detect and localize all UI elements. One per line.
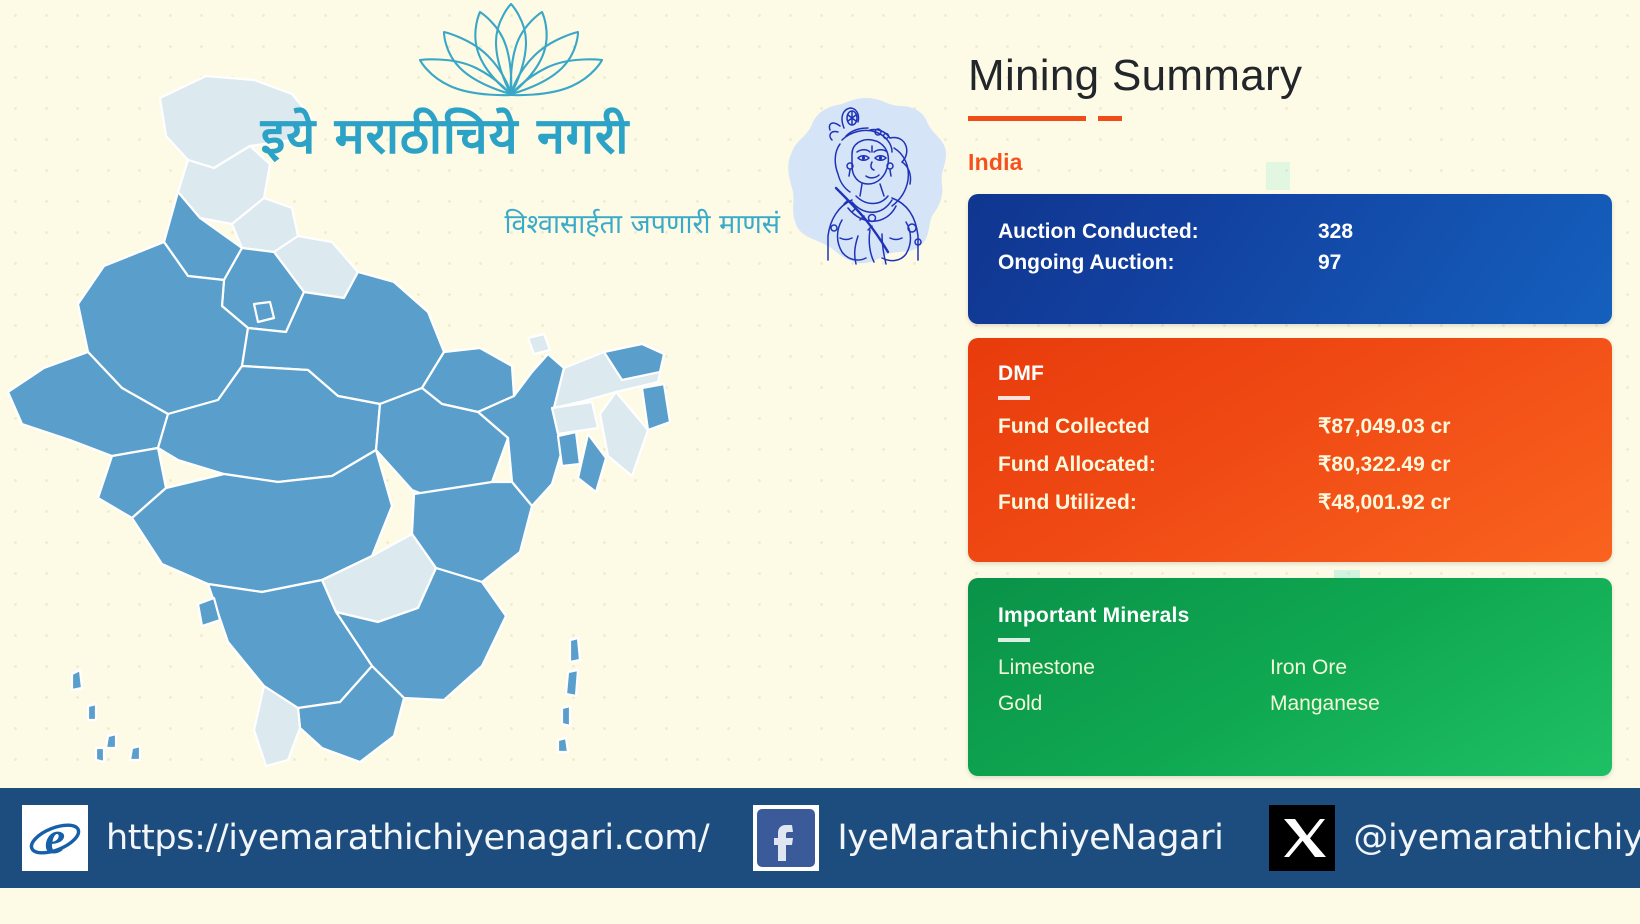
card-heading: DMF [998, 362, 1582, 386]
internet-explorer-icon: e [22, 805, 88, 871]
mining-summary-panel: Mining Summary India Auction Conducted: … [968, 52, 1628, 776]
stat-value: 328 [1318, 220, 1353, 244]
x-twitter-icon [1269, 805, 1335, 871]
stat-label: Fund Utilized: [998, 491, 1318, 515]
mineral-name: Iron Ore [1270, 656, 1347, 680]
stat-label: Ongoing Auction: [998, 251, 1318, 275]
mineral-name: Gold [998, 692, 1270, 716]
stat-label: Fund Allocated: [998, 453, 1318, 477]
mineral-name: Limestone [998, 656, 1270, 680]
facebook-handle: IyeMarathichiyeNagari [837, 818, 1223, 858]
footer-x[interactable]: @iyemarathichiye [1247, 788, 1640, 888]
svg-text:e: e [45, 812, 65, 863]
stat-value: ₹87,049.03 cr [1318, 414, 1450, 439]
krishna-illustration [782, 96, 950, 268]
card-heading-rule [998, 638, 1030, 642]
facebook-icon [753, 805, 819, 871]
dmf-card: DMF Fund Collected ₹87,049.03 cr Fund Al… [968, 338, 1612, 562]
mineral-row: Gold Manganese [998, 692, 1582, 716]
stat-value: ₹48,001.92 cr [1318, 490, 1450, 515]
poster-canvas: इये मराठीचिये नगरी विश्वासार्हता जपणारी … [0, 0, 1640, 924]
stat-row: Ongoing Auction: 97 [998, 251, 1582, 275]
stat-label: Fund Collected [998, 415, 1318, 439]
card-heading: Important Minerals [998, 604, 1582, 628]
mineral-row: Limestone Iron Ore [998, 656, 1582, 680]
footer-facebook[interactable]: IyeMarathichiyeNagari [731, 788, 1223, 888]
auction-card: Auction Conducted: 328 Ongoing Auction: … [968, 194, 1612, 324]
title-rule-long [968, 116, 1086, 121]
lotus-icon [416, 0, 606, 102]
social-footer: e https://iyemarathichiyenagari.com/ Iye… [0, 788, 1640, 888]
title-rule-short [1098, 116, 1122, 121]
stat-value: ₹80,322.49 cr [1318, 452, 1450, 477]
stat-row: Fund Utilized: ₹48,001.92 cr [998, 490, 1582, 515]
footer-website[interactable]: e https://iyemarathichiyenagari.com/ [0, 788, 709, 888]
brand-subtitle: विश्वासार्हता जपणारी माणसं [180, 204, 780, 241]
stat-row: Fund Allocated: ₹80,322.49 cr [998, 452, 1582, 477]
brand-title: इये मराठीचिये नगरी [100, 100, 790, 168]
mineral-name: Manganese [1270, 692, 1380, 716]
website-url: https://iyemarathichiyenagari.com/ [106, 818, 709, 858]
stat-row: Auction Conducted: 328 [998, 220, 1582, 244]
minerals-card: Important Minerals Limestone Iron Ore Go… [968, 578, 1612, 776]
region-label: India [968, 149, 1628, 176]
title-underline [968, 116, 1628, 121]
x-handle: @iyemarathichiye [1353, 818, 1640, 858]
stat-row: Fund Collected ₹87,049.03 cr [998, 414, 1582, 439]
stat-value: 97 [1318, 251, 1341, 275]
page-title: Mining Summary [968, 52, 1628, 100]
card-heading-rule [998, 396, 1030, 400]
stat-label: Auction Conducted: [998, 220, 1318, 244]
